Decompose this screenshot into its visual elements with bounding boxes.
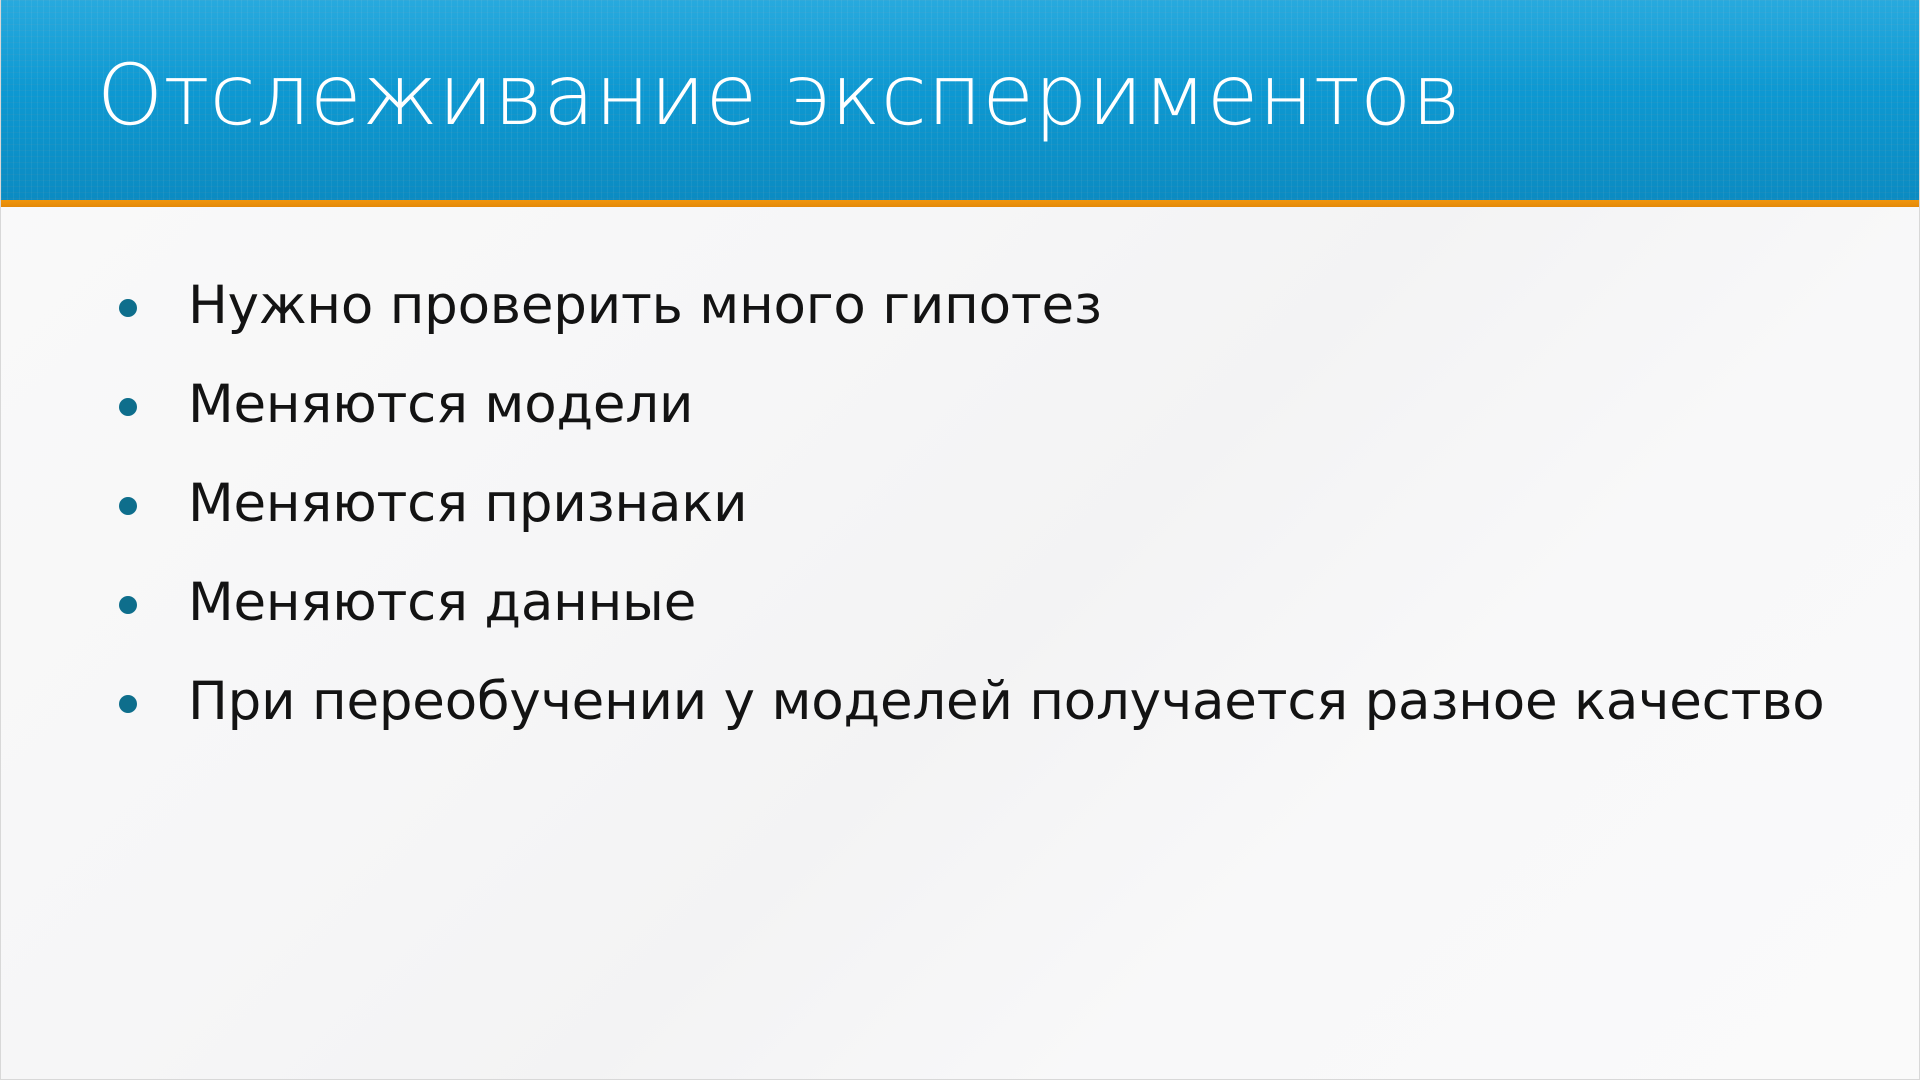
list-item: Меняются данные bbox=[119, 574, 1859, 638]
bullet-dot-icon bbox=[119, 299, 137, 317]
list-item-label: Меняются признаки bbox=[188, 475, 1859, 532]
bullet-list: Нужно проверить много гипотез Меняются м… bbox=[119, 277, 1859, 737]
list-item: Меняются модели bbox=[119, 376, 1859, 440]
page-title: Отслеживание экспериментов bbox=[97, 52, 1857, 139]
slide: Отслеживание экспериментов Нужно провери… bbox=[0, 0, 1920, 1080]
slide-content: Нужно проверить много гипотез Меняются м… bbox=[1, 207, 1920, 1080]
list-item: Меняются признаки bbox=[119, 475, 1859, 539]
list-item-label: Нужно проверить много гипотез bbox=[188, 277, 1859, 334]
list-item-label: Меняются модели bbox=[188, 376, 1859, 433]
accent-divider bbox=[1, 200, 1920, 207]
bullet-dot-icon bbox=[119, 596, 137, 614]
bullet-dot-icon bbox=[119, 398, 137, 416]
bullet-dot-icon bbox=[119, 695, 137, 713]
bullet-dot-icon bbox=[119, 497, 137, 515]
list-item-label: Меняются данные bbox=[188, 574, 1859, 631]
list-item: При переобучении у моделей получается ра… bbox=[119, 673, 1859, 737]
list-item: Нужно проверить много гипотез bbox=[119, 277, 1859, 341]
list-item-label: При переобучении у моделей получается ра… bbox=[188, 673, 1859, 730]
title-header-band: Отслеживание экспериментов bbox=[1, 0, 1920, 200]
